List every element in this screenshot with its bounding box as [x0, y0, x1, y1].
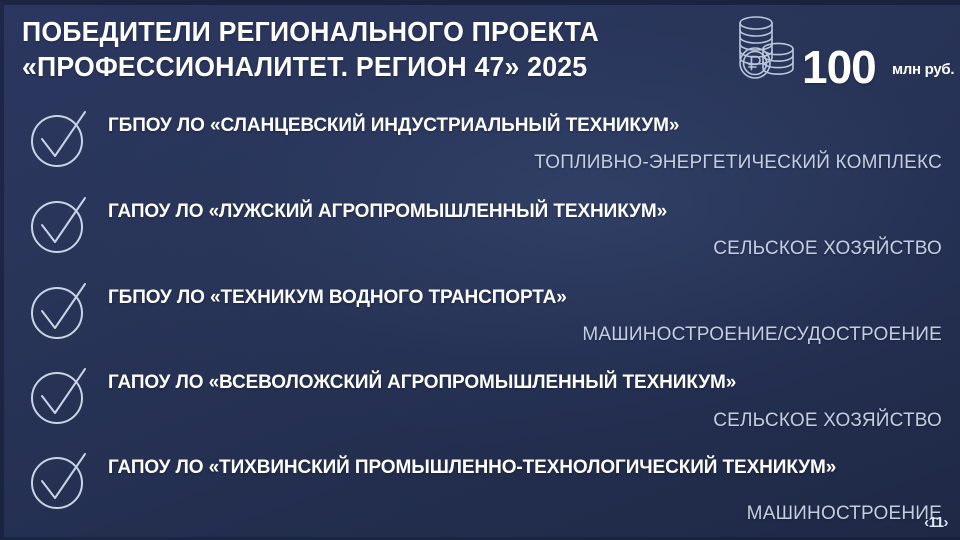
- check-circle-icon: [28, 108, 90, 170]
- winner-name: ГАПОУ ЛО «ТИХВИНСКИЙ ПРОМЫШЛЕННО-ТЕХНОЛО…: [108, 456, 878, 479]
- winner-sector: МАШИНОСТРОЕНИЕ: [747, 503, 942, 525]
- amount-unit: млн руб.: [892, 62, 954, 77]
- check-circle-icon: [28, 194, 90, 256]
- winner-sector: СЕЛЬСКОЕ ХОЗЯЙСТВО: [713, 238, 942, 260]
- winner-name: ГАПОУ ЛО «ЛУЖСКИЙ АГРОПРОМЫШЛЕННЫЙ ТЕХНИ…: [108, 200, 920, 223]
- winner-sector: МАШИНОСТРОЕНИЕ/СУДОСТРОЕНИЕ: [582, 324, 942, 346]
- check-circle-icon: [28, 280, 90, 342]
- winner-sector: СЕЛЬСКОЕ ХОЗЯЙСТВО: [713, 410, 942, 432]
- coin-stack-ruble-icon: [726, 14, 804, 90]
- winner-name: ГАПОУ ЛО «ВСЕВОЛОЖСКИЙ АГРОПРОМЫШЛЕННЫЙ …: [108, 371, 920, 394]
- winner-name: ГБПОУ ЛО «СЛАНЦЕВСКИЙ ИНДУСТРИАЛЬНЫЙ ТЕХ…: [108, 114, 920, 137]
- check-circle-icon: [28, 365, 90, 427]
- amount-value: 100: [802, 44, 876, 90]
- slide-canvas: ПОБЕДИТЕЛИ РЕГИОНАЛЬНОГО ПРОЕКТА «ПРОФЕС…: [0, 0, 960, 540]
- check-circle-icon: [28, 450, 90, 512]
- winner-sector: ТОПЛИВНО-ЭНЕРГЕТИЧЕСКИЙ КОМПЛЕКС: [534, 152, 942, 174]
- winner-name: ГБПОУ ЛО «ТЕХНИКУМ ВОДНОГО ТРАНСПОРТА»: [108, 286, 920, 309]
- page-indicator[interactable]: ‹11›: [924, 515, 948, 530]
